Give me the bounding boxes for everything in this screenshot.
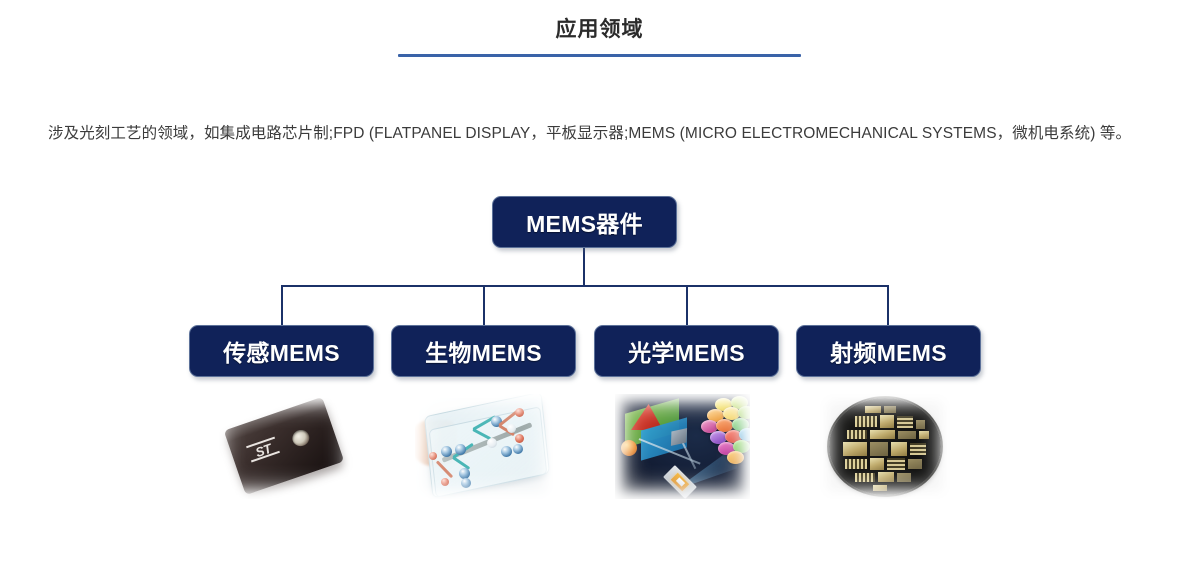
sensor-photo-stage: ST: [212, 394, 357, 499]
biochip-microfluidic-slide-photo: [415, 394, 553, 499]
die-block: [878, 472, 894, 482]
light-source-ball-orange: [621, 440, 637, 456]
die-block: [855, 473, 875, 482]
node-rf-mems[interactable]: 射频MEMS: [796, 325, 981, 377]
die-block: [908, 459, 922, 469]
die-block: [865, 406, 881, 413]
die-block: [887, 458, 905, 470]
reservoir-node: [441, 446, 452, 457]
rf-mems-die-wafer-photo: [820, 394, 950, 499]
node-child-label: 生物MEMS: [425, 334, 542, 368]
die-block: [847, 430, 867, 439]
rf-die-disc: [829, 398, 941, 495]
die-block: [916, 420, 925, 429]
reservoir-node: [515, 408, 524, 417]
node-bio-mems[interactable]: 生物MEMS: [391, 325, 576, 377]
photo-content: ST: [212, 394, 357, 499]
node-child-label: 射频MEMS: [830, 334, 947, 368]
die-block: [897, 416, 913, 428]
page-title: 应用领域: [0, 0, 1199, 43]
reservoir-node: [455, 444, 466, 455]
connector-root-drop: [583, 248, 585, 286]
reservoir-node: [429, 452, 437, 460]
title-underline-rule: [398, 54, 801, 57]
die-block: [870, 442, 888, 456]
die-block: [910, 443, 926, 455]
page-header: 应用领域: [0, 0, 1199, 57]
sensor-package-body: ST: [224, 397, 344, 495]
connector-drop-3: [686, 285, 688, 326]
die-block: [855, 416, 877, 427]
die-block: [873, 485, 887, 491]
die-block: [845, 459, 867, 469]
node-mems-root[interactable]: MEMS器件: [492, 196, 677, 248]
reservoir-node: [441, 478, 449, 486]
intro-paragraph: 涉及光刻工艺的领域，如集成电路芯片制;FPD (FLATPANEL DISPLA…: [48, 120, 1153, 147]
reservoir-node: [515, 434, 524, 443]
reservoir-node: [487, 438, 497, 448]
sensor-port-hole: [290, 428, 311, 449]
node-root-label: MEMS器件: [526, 205, 643, 239]
photo-content: [820, 394, 950, 499]
optical-photo-stage: [615, 394, 750, 499]
reservoir-node: [461, 478, 471, 488]
die-block: [870, 458, 884, 470]
die-block: [884, 406, 896, 413]
mems-hierarchy-diagram: MEMS器件 传感MEMS 生物MEMS 光学MEMS 射频MEMS ST: [0, 186, 1199, 526]
sensor-package-bevel: [224, 397, 326, 442]
reservoir-node: [507, 424, 516, 433]
photo-content: [415, 394, 553, 499]
die-block: [897, 473, 911, 482]
optical-mems-micromirror-photo: [615, 394, 750, 499]
color-lens: [727, 451, 744, 464]
node-sensing-mems[interactable]: 传感MEMS: [189, 325, 374, 377]
die-block: [898, 431, 916, 439]
reservoir-node: [501, 446, 512, 457]
die-block: [870, 430, 895, 439]
die-block: [880, 415, 894, 428]
die-block: [919, 431, 929, 439]
die-block: [843, 442, 867, 456]
rf-photo-stage: [820, 394, 950, 499]
connector-drop-4: [887, 285, 889, 326]
light-source-ball: [615, 412, 628, 425]
die-block: [891, 442, 907, 456]
reservoir-node: [513, 444, 523, 454]
node-child-label: 光学MEMS: [628, 334, 745, 368]
node-optical-mems[interactable]: 光学MEMS: [594, 325, 779, 377]
connector-drop-2: [483, 285, 485, 326]
node-child-label: 传感MEMS: [223, 334, 340, 368]
connector-drop-1: [281, 285, 283, 326]
biochip-photo-stage: [415, 394, 553, 499]
st-mems-sensor-package-photo: ST: [212, 394, 357, 499]
st-logo-icon: ST: [246, 437, 280, 463]
connector-horizontal-bus: [281, 285, 888, 287]
photo-content: [615, 394, 750, 499]
